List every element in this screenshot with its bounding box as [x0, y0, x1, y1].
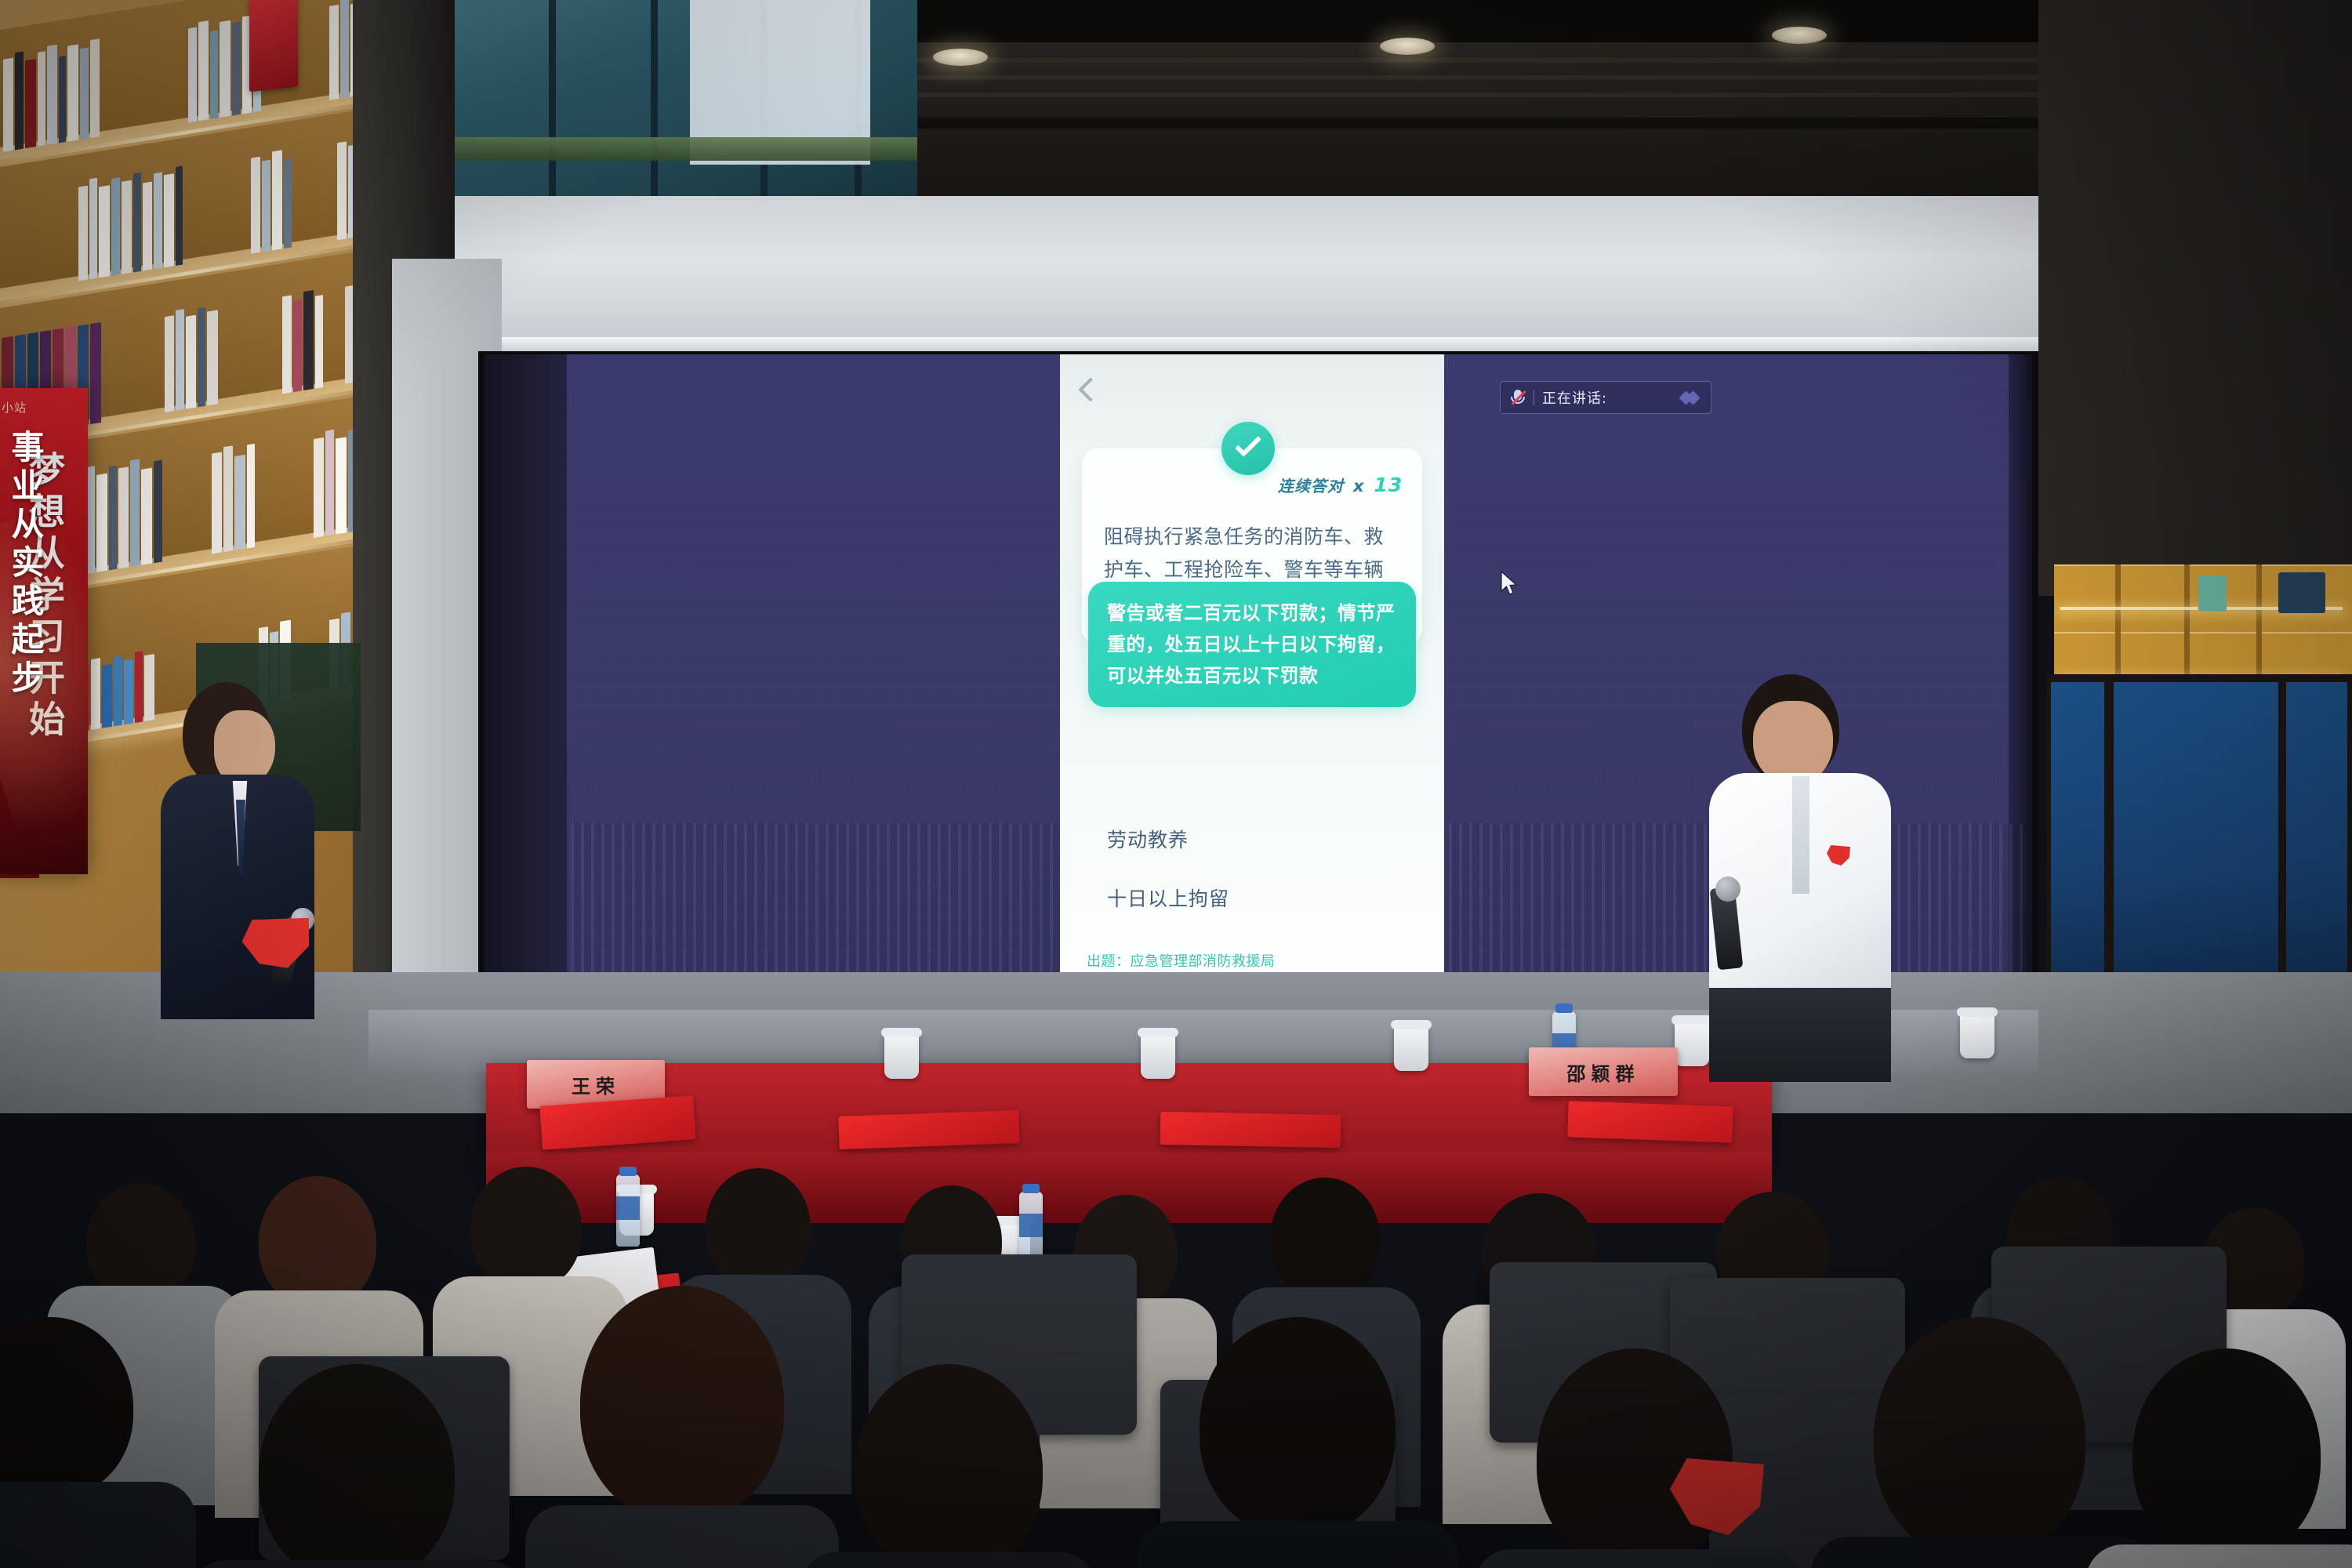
conference-room-scene: 小站 梦想从学习开始 事业从实践起步: [0, 0, 2352, 1568]
option-second[interactable]: 劳动教养: [1107, 825, 1189, 853]
back-chevron-icon[interactable]: [1078, 377, 1102, 401]
mouse-cursor: [1500, 571, 1520, 601]
banner-secondary-text: 事业从实践起步: [2, 430, 49, 699]
streak-prefix: 连续答对: [1278, 477, 1344, 495]
banner-small-label: 小站: [2, 399, 27, 416]
correct-check-icon: [1221, 422, 1275, 475]
wood-wall-panel: [2038, 0, 2352, 596]
display-cubbies: [2054, 564, 2352, 690]
audience-seating: [0, 878, 2352, 1568]
option-correct[interactable]: 警告或者二百元以下罚款；情节严重的，处五日以上十日以下拘留，可以并处五百元以下罚…: [1088, 582, 1416, 707]
speaking-indicator: 正在讲话:: [1500, 381, 1711, 414]
video-share-icon: [1681, 390, 1701, 405]
shirt-placket: [1792, 776, 1809, 894]
microphone-muted-icon: [1510, 389, 1526, 406]
jacket-red-emblem: [1670, 1458, 1764, 1535]
streak-count: 13: [1374, 474, 1403, 496]
promo-card: [249, 0, 298, 92]
streak-label: 连续答对 x 13: [1278, 474, 1403, 496]
speaking-label: 正在讲话:: [1542, 387, 1607, 408]
streak-multiplier: x: [1353, 477, 1365, 495]
lapel-badge: [1827, 845, 1850, 866]
soffit-wall: [368, 196, 2054, 353]
